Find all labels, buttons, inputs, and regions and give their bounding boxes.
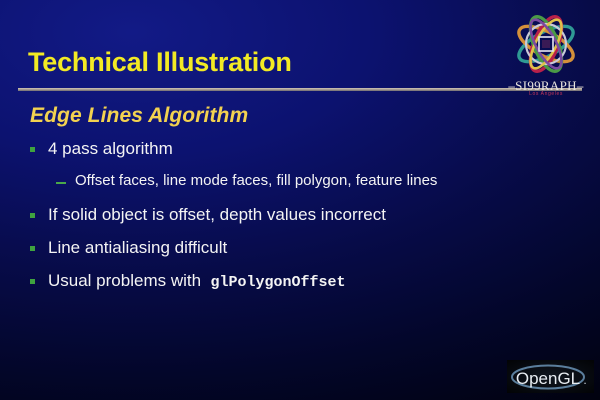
list-item: Offset faces, line mode faces, fill poly… (30, 171, 575, 191)
opengl-logo: OpenGL . (507, 360, 594, 393)
list-item-label: Line antialiasing difficult (48, 237, 227, 259)
svg-text:OpenGL: OpenGL (516, 369, 580, 388)
opengl-emblem-icon: OpenGL . (507, 360, 594, 393)
siggraph-emblem-icon (494, 8, 598, 80)
list-item-label: If solid object is offset, depth values … (48, 204, 386, 226)
square-bullet-icon (30, 213, 35, 218)
list-item-label: Usual problems with glPolygonOffset (48, 270, 346, 294)
code-token: glPolygonOffset (211, 274, 346, 291)
square-bullet-icon (30, 246, 35, 251)
dash-bullet-icon (56, 182, 66, 184)
svg-text:.: . (583, 373, 586, 387)
siggraph-city-label: Los Angeles (494, 91, 598, 97)
slide-subtitle: Edge Lines Algorithm (30, 104, 248, 128)
list-item-text: Usual problems with (48, 271, 201, 290)
siggraph-logo: –SI99RAPH– Los Angeles (494, 8, 598, 100)
list-item-label: Offset faces, line mode faces, fill poly… (75, 171, 437, 191)
square-bullet-icon (30, 279, 35, 284)
bullet-list: 4 pass algorithm Offset faces, line mode… (30, 138, 575, 305)
list-item: Line antialiasing difficult (30, 237, 575, 259)
presentation-slide: Technical Illustration Edge Lines Algori… (0, 0, 600, 400)
list-item: Usual problems with glPolygonOffset (30, 270, 575, 294)
list-item-label: 4 pass algorithm (48, 138, 173, 160)
list-item: If solid object is offset, depth values … (30, 204, 575, 226)
page-title: Technical Illustration (28, 47, 292, 78)
square-bullet-icon (30, 147, 35, 152)
list-item: 4 pass algorithm (30, 138, 575, 160)
